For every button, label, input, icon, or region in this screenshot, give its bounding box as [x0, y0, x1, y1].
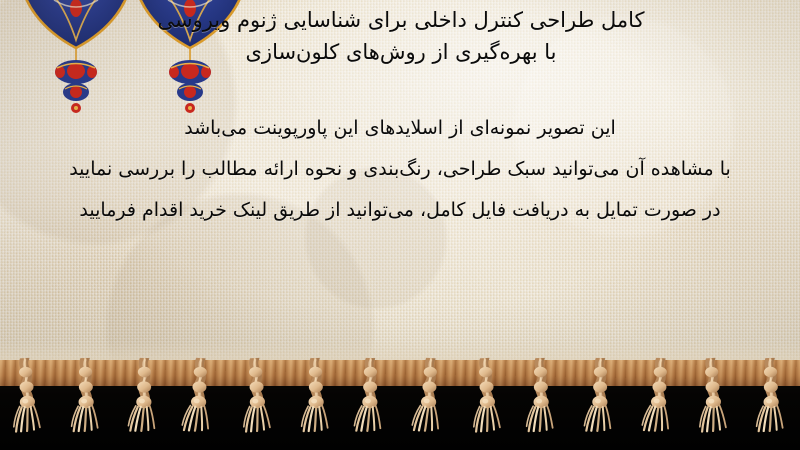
tassel: [352, 358, 387, 433]
fringe-selvedge-band: [0, 360, 800, 386]
body-line-3: در صورت تمایل به دریافت فایل کامل، می‌تو…: [10, 190, 790, 231]
tassel: [127, 358, 162, 433]
tassel: [582, 358, 617, 433]
tassel: [238, 357, 276, 433]
tassel: [409, 357, 447, 433]
body-line-1: این تصویر نمونه‌ای از اسلایدهای این پاور…: [10, 108, 790, 149]
title-line-2: با بهره‌گیری از روش‌های کلون‌سازی: [16, 36, 786, 68]
text-layer: کامل طراحی کنترل داخلی برای شناسایی ژنوم…: [0, 0, 800, 372]
tassel: [179, 357, 217, 433]
slide-canvas: کامل طراحی کنترل داخلی برای شناسایی ژنوم…: [0, 0, 800, 450]
tassel: [8, 357, 46, 433]
tassel: [68, 358, 103, 433]
carpet-fringe: [0, 352, 800, 450]
slide-title: کامل طراحی کنترل داخلی برای شناسایی ژنوم…: [16, 4, 786, 68]
tassel: [754, 358, 789, 433]
tassel: [639, 357, 677, 433]
title-line-1: کامل طراحی کنترل داخلی برای شناسایی ژنوم…: [16, 4, 786, 36]
tassel: [468, 357, 506, 433]
tassel: [298, 358, 333, 433]
slide-body: این تصویر نمونه‌ای از اسلایدهای این پاور…: [10, 108, 790, 231]
body-line-2: با مشاهده آن می‌توانید سبک طراحی، رنگ‌بن…: [10, 149, 790, 190]
tassel: [524, 358, 559, 433]
tassel: [694, 357, 732, 433]
